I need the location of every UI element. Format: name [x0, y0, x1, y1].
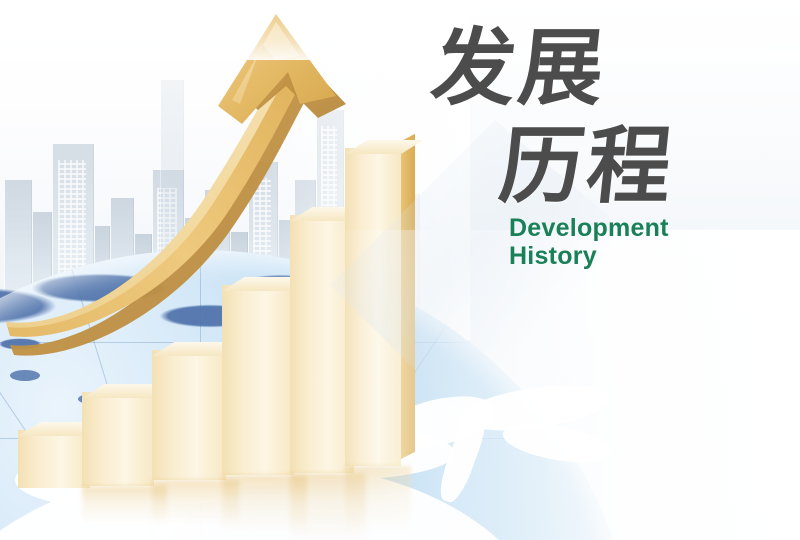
- bar-front-face: [152, 350, 226, 480]
- development-history-banner: 发展 历程 Development History: [0, 0, 800, 540]
- title-chinese-line2: 历程: [496, 124, 680, 208]
- bottom-white-fade: [0, 0, 800, 60]
- title-chinese-line1: 发展: [428, 26, 612, 110]
- title-english-line1: Development: [509, 213, 669, 244]
- chart-bar-2: [82, 392, 154, 486]
- title-english-line2: History: [509, 241, 597, 272]
- chart-bar-1: [18, 430, 90, 488]
- bar-front-face: [82, 392, 154, 486]
- chart-bar-3: [152, 350, 226, 480]
- bar-front-face: [18, 430, 90, 488]
